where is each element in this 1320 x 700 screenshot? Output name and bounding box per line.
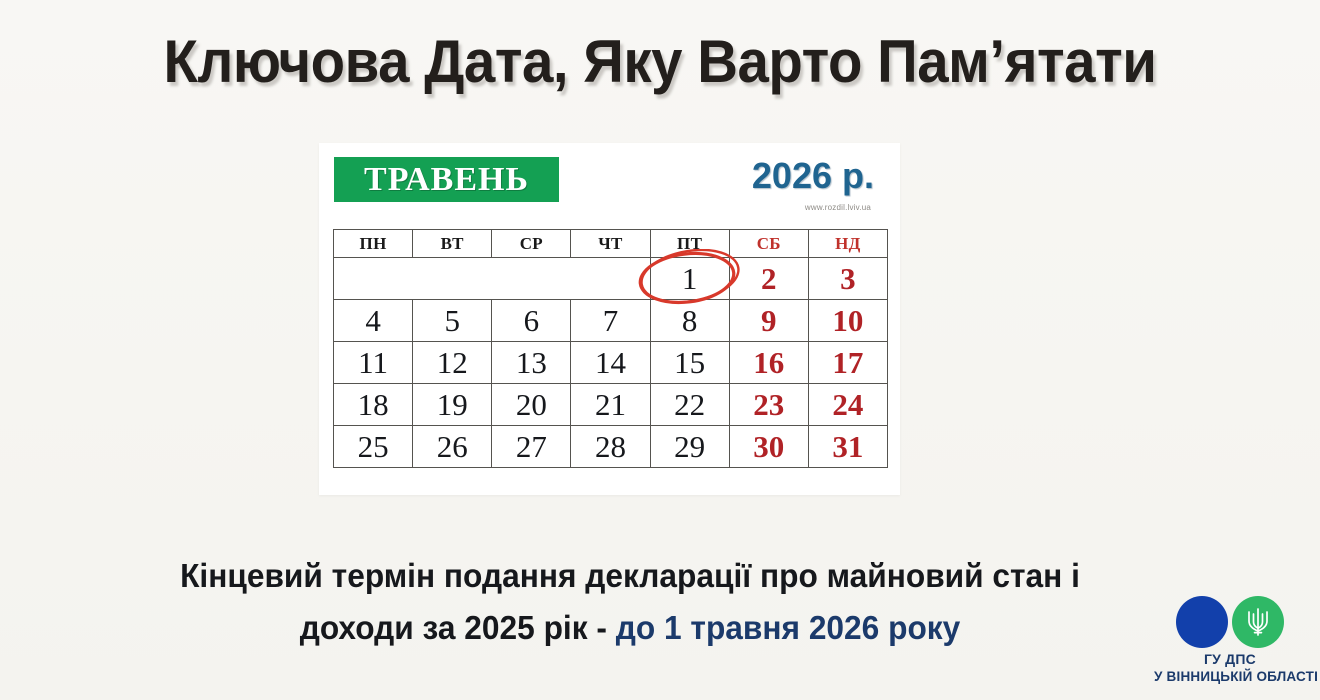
- calendar-day-23[interactable]: 23: [729, 384, 808, 426]
- calendar-day-19[interactable]: 19: [413, 384, 492, 426]
- calendar-day-14[interactable]: 14: [571, 342, 650, 384]
- caption-line-2-prefix: доходи за 2025 рік -: [300, 609, 616, 646]
- logo-text-line-1: ГУ ДПС: [1154, 651, 1306, 668]
- calendar-card: ТРАВЕНЬ 2026 р. www.rozdil.lviv.ua ПН ВТ…: [319, 143, 900, 495]
- organization-logo: ГУ ДПС У ВІННИЦЬКІЙ ОБЛАСТІ: [1154, 596, 1306, 692]
- source-watermark: www.rozdil.lviv.ua: [805, 203, 871, 213]
- calendar-day-18[interactable]: 18: [334, 384, 413, 426]
- calendar-day-24[interactable]: 24: [808, 384, 887, 426]
- calendar-day-5[interactable]: 5: [413, 300, 492, 342]
- caption-deadline-accent: до 1 травня 2026 року: [616, 609, 961, 646]
- month-label: ТРАВЕНЬ: [364, 163, 529, 197]
- calendar-day-13[interactable]: 13: [492, 342, 571, 384]
- calendar-day-17[interactable]: 17: [808, 342, 887, 384]
- ukrainian-trident-icon: [1245, 606, 1271, 638]
- calendar-grid: ПН ВТ СР ЧТ ПТ СБ НД 1: [333, 229, 888, 468]
- logo-circles: [1154, 596, 1306, 648]
- calendar-day-11[interactable]: 11: [334, 342, 413, 384]
- calendar-day-25[interactable]: 25: [334, 426, 413, 468]
- calendar-day-4[interactable]: 4: [334, 300, 413, 342]
- weekday-header-sb: СБ: [729, 230, 808, 258]
- calendar-empty-cells: [334, 258, 651, 300]
- calendar-day-28[interactable]: 28: [571, 426, 650, 468]
- blue-circle-icon: [1176, 596, 1228, 648]
- caption-block: Кінцевий термін подання декларації про м…: [73, 550, 1187, 654]
- calendar-day-29[interactable]: 29: [650, 426, 729, 468]
- calendar-week-row: 1 2 3: [334, 258, 888, 300]
- month-banner: ТРАВЕНЬ: [334, 157, 559, 202]
- calendar-day-10[interactable]: 10: [808, 300, 887, 342]
- calendar-day-7[interactable]: 7: [571, 300, 650, 342]
- weekday-header-pt: ПТ: [650, 230, 729, 258]
- calendar-week-row: 25 26 27 28 29 30 31: [334, 426, 888, 468]
- logo-text: ГУ ДПС У ВІННИЦЬКІЙ ОБЛАСТІ: [1154, 651, 1306, 685]
- page-title: Ключова Дата, Яку Варто Пам’ятати: [40, 26, 1281, 98]
- calendar-day-15[interactable]: 15: [650, 342, 729, 384]
- calendar-day-16[interactable]: 16: [729, 342, 808, 384]
- calendar-header: ТРАВЕНЬ 2026 р. www.rozdil.lviv.ua: [319, 143, 900, 221]
- caption-line-2: доходи за 2025 рік - до 1 травня 2026 ро…: [73, 602, 1187, 654]
- weekday-header-vt: ВТ: [413, 230, 492, 258]
- calendar-day-9[interactable]: 9: [729, 300, 808, 342]
- calendar-day-22[interactable]: 22: [650, 384, 729, 426]
- calendar-day-31[interactable]: 31: [808, 426, 887, 468]
- calendar-day-12[interactable]: 12: [413, 342, 492, 384]
- weekday-header-pn: ПН: [334, 230, 413, 258]
- green-circle-icon: [1232, 596, 1284, 648]
- calendar-week-row: 11 12 13 14 15 16 17: [334, 342, 888, 384]
- calendar-day-30[interactable]: 30: [729, 426, 808, 468]
- calendar-day-27[interactable]: 27: [492, 426, 571, 468]
- day-number: 1: [682, 261, 698, 296]
- weekday-header-sr: СР: [492, 230, 571, 258]
- calendar-day-20[interactable]: 20: [492, 384, 571, 426]
- calendar-week-row: 18 19 20 21 22 23 24: [334, 384, 888, 426]
- weekday-header-nd: НД: [808, 230, 887, 258]
- calendar-day-8[interactable]: 8: [650, 300, 729, 342]
- calendar-day-26[interactable]: 26: [413, 426, 492, 468]
- caption-line-1: Кінцевий термін подання декларації про м…: [73, 550, 1187, 602]
- calendar-header-row: ПН ВТ СР ЧТ ПТ СБ НД: [334, 230, 888, 258]
- calendar-day-1[interactable]: 1: [650, 258, 729, 300]
- calendar-day-3[interactable]: 3: [808, 258, 887, 300]
- year-label: 2026 р.: [752, 156, 874, 196]
- calendar-day-6[interactable]: 6: [492, 300, 571, 342]
- logo-text-line-2: У ВІННИЦЬКІЙ ОБЛАСТІ: [1154, 668, 1306, 685]
- calendar-day-21[interactable]: 21: [571, 384, 650, 426]
- calendar-week-row: 4 5 6 7 8 9 10: [334, 300, 888, 342]
- calendar-day-2[interactable]: 2: [729, 258, 808, 300]
- weekday-header-cht: ЧТ: [571, 230, 650, 258]
